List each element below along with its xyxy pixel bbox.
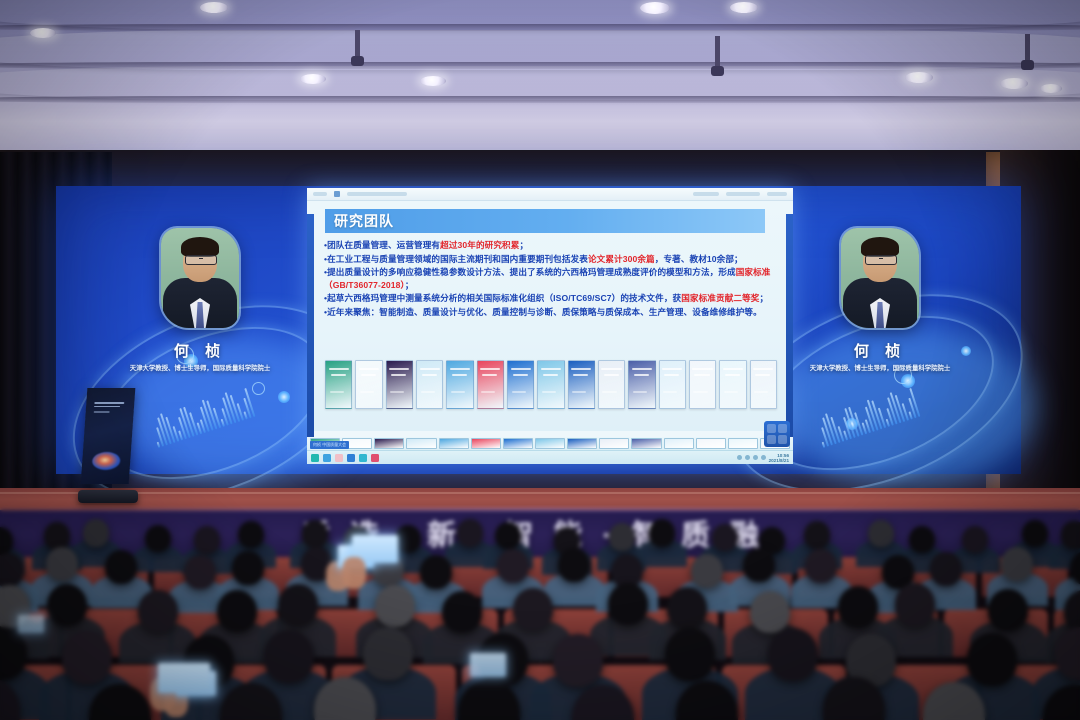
slide-thumbnail[interactable] [664, 438, 694, 449]
bullet-highlight: 超过30年的研究积累 [440, 240, 519, 250]
presentation-slide: 研究团队 •团队在质量管理、运营管理有超过30年的研究积累；•在工业工程与质量管… [307, 188, 793, 464]
audience-head [420, 555, 452, 589]
podium-logo [92, 452, 121, 470]
audience-head [184, 555, 216, 589]
ceiling-downlight [730, 2, 758, 13]
audience-hand [342, 557, 366, 589]
audience-head [691, 554, 723, 588]
audience-head [232, 551, 264, 585]
audience-head [608, 583, 648, 625]
bullet-text: •团队在质量管理、运营管理有 [324, 240, 440, 250]
book-cover-1 [325, 360, 352, 409]
audience-head [805, 549, 837, 583]
audience-head [712, 524, 738, 552]
ceiling-rib [0, 62, 1080, 69]
slide-thumbnail[interactable] [728, 438, 758, 449]
minimize-button[interactable] [767, 424, 776, 433]
audience-head [838, 586, 878, 628]
book-cover-11 [628, 360, 655, 409]
tray-icon[interactable] [745, 455, 750, 460]
audience-head [264, 630, 314, 683]
pendant-head [711, 66, 724, 76]
audience-head [868, 520, 894, 548]
audience-head [768, 628, 818, 681]
speaker-podium [78, 388, 138, 503]
audience-head [649, 519, 675, 547]
taskbar-app-icon-4[interactable] [347, 454, 355, 462]
pendant-head [351, 56, 364, 66]
mic-button[interactable] [767, 435, 776, 444]
audience-phone [18, 615, 44, 633]
network-icon[interactable] [753, 455, 758, 460]
slide-thumbnail[interactable] [535, 438, 565, 449]
slide-bullet: •在工业工程与质量管理领域的国际主流期刊和国内重要期刊包括发表论文累计300余篇… [324, 253, 776, 266]
audience-head [895, 583, 935, 625]
book-cover-6 [477, 360, 504, 409]
taskbar-tray[interactable]: 10:56 2021/8/21 [737, 453, 789, 463]
slide-bullet: •团队在质量管理、运营管理有超过30年的研究积累； [324, 239, 776, 252]
book-cover-14 [719, 360, 746, 409]
pendant-head [1021, 60, 1034, 70]
volume-icon[interactable] [761, 455, 766, 460]
ceiling-downlight [1040, 84, 1062, 93]
audience-head [1061, 521, 1080, 549]
audience-head [145, 525, 171, 553]
taskbar-app-icon-2[interactable] [323, 454, 331, 462]
audience-head [44, 522, 70, 550]
bullet-text: ； [519, 240, 528, 250]
audience-head [667, 587, 707, 629]
book-cover-10 [598, 360, 625, 409]
book-cover-7 [507, 360, 534, 409]
taskbar-icons[interactable] [311, 454, 379, 462]
slide-bullet: •提出质量设计的多响应稳健性稳参数设计方法、提出了系统的六西格玛管理成熟度评价的… [324, 266, 776, 291]
book-cover-5 [446, 360, 473, 409]
audience-head [988, 589, 1028, 631]
ceiling-downlight [30, 28, 56, 38]
slide-thumbnail-strip[interactable] [307, 437, 793, 450]
book-cover-15 [750, 360, 777, 409]
share-button[interactable] [778, 435, 787, 444]
conference-hall-photo: 何 桢 天津大学教授、博士生导师，国际质量科学院院士 何 桢 天津大学教授、博士… [0, 0, 1080, 720]
audience-head [375, 585, 415, 627]
slide-canvas: 研究团队 •团队在质量管理、运营管理有超过30年的研究积累；•在工业工程与质量管… [307, 201, 793, 431]
book-cover-4 [416, 360, 443, 409]
bullet-text: ； [759, 293, 768, 303]
audience-head [47, 584, 87, 626]
slide-thumbnail[interactable] [471, 438, 501, 449]
audience-head [194, 526, 220, 554]
app-icon [334, 191, 340, 197]
book-cover-8 [537, 360, 564, 409]
audience-head [513, 588, 553, 630]
book-cover-2 [355, 360, 382, 409]
book-cover-row [325, 360, 777, 409]
floating-control-panel[interactable] [764, 421, 790, 447]
bullet-text: •近年来聚焦：智能制造、质量设计与优化、质量控制与诊断、质保策略与质保成本、生产… [324, 307, 762, 317]
audience-head [497, 549, 529, 583]
bullet-text: •起草六西格玛管理中测量系统分析的相关国际标准化组织（ISO/TC69/SC7）… [324, 293, 681, 303]
powerpoint-ribbon[interactable] [307, 188, 793, 201]
pendant-rod [355, 30, 360, 56]
audience-head [395, 525, 421, 553]
slide-thumbnail[interactable] [374, 438, 404, 449]
taskbar-app-icon-3[interactable] [335, 454, 343, 462]
slide-thumbnail[interactable] [439, 438, 469, 449]
book-cover-9 [568, 360, 595, 409]
taskbar-app-icon-6[interactable] [371, 454, 379, 462]
audience-head [83, 519, 109, 547]
ceiling-downlight [420, 76, 446, 86]
taskbar-app-icon-1[interactable] [311, 454, 319, 462]
slide-thumbnail[interactable] [567, 438, 597, 449]
taskbar-app-icon-5[interactable] [359, 454, 367, 462]
audience-head [0, 553, 24, 587]
slide-thumbnail[interactable] [503, 438, 533, 449]
audience-head [967, 633, 1017, 686]
audience-head [962, 526, 988, 554]
stage-edge-line [0, 492, 1080, 494]
audience-head [138, 590, 178, 632]
slide-thumbnail[interactable] [631, 438, 661, 449]
slide-thumbnail[interactable] [696, 438, 726, 449]
tray-icon[interactable] [737, 455, 742, 460]
speaker-portrait [161, 228, 239, 328]
audience-head [217, 590, 257, 632]
bullet-highlight: 论文累计300余篇 [588, 254, 655, 264]
speaker-portrait [841, 228, 919, 328]
slide-thumbnail[interactable] [406, 438, 436, 449]
slide-thumbnail[interactable] [599, 438, 629, 449]
audience-head [302, 520, 328, 548]
bullet-highlight: 国家标准贡献二等奖 [681, 293, 759, 303]
audience-phone [158, 663, 210, 693]
pendant-rod [1025, 34, 1030, 60]
audience-head [553, 634, 603, 687]
audience-head [457, 519, 483, 547]
maximize-button[interactable] [778, 424, 787, 433]
audience-head [495, 522, 521, 550]
audience-head [238, 521, 264, 549]
taskbar-clock-date: 2021/8/21 [769, 458, 789, 463]
audience-head [665, 628, 715, 681]
ceiling-downlight [640, 2, 670, 14]
book-cover-12 [659, 360, 686, 409]
audience-head [750, 591, 790, 633]
audience-head [46, 547, 78, 581]
audience-head [609, 523, 635, 551]
slide-accent-left [307, 214, 314, 444]
ceiling-rib [0, 24, 1080, 31]
bullet-text: •在工业工程与质量管理领域的国际主流期刊和国内重要期刊包括发表 [324, 254, 588, 264]
bullet-text: ，专著、教材10余部； [655, 254, 743, 264]
audience-head [558, 548, 590, 582]
ceiling [0, 0, 1080, 152]
ceiling-downlight [200, 2, 228, 13]
ceiling-rib [0, 96, 1080, 103]
audience-head [442, 591, 482, 633]
speaker-title: 天津大学教授、博士生导师，国际质量科学院院士 [75, 363, 325, 372]
pendant-rod [715, 36, 720, 66]
slide-bullet-list: •团队在质量管理、运营管理有超过30年的研究积累；•在工业工程与质量管理领域的国… [324, 239, 776, 320]
slide-title: 研究团队 [334, 211, 394, 231]
slide-bullet: •近年来聚焦：智能制造、质量设计与优化、质量控制与诊断、质保策略与质保成本、生产… [324, 306, 776, 319]
book-cover-3 [386, 360, 413, 409]
slide-bullet: •起草六西格玛管理中测量系统分析的相关国际标准化组织（ISO/TC69/SC7）… [324, 292, 776, 305]
audience-seating [0, 505, 1080, 720]
audience-head [1001, 547, 1033, 581]
meeting-tag: 何桢 中国质量大会 [310, 441, 349, 449]
ceiling-downlight [1000, 78, 1028, 89]
bullet-text: ； [405, 280, 414, 290]
slide-accent-right [786, 214, 793, 444]
audience-head [278, 584, 318, 626]
audience-head [743, 548, 775, 582]
audience-head [105, 550, 137, 584]
book-cover-13 [689, 360, 716, 409]
windows-taskbar[interactable]: 10:56 2021/8/21 [307, 450, 793, 464]
audience-head [1022, 520, 1048, 548]
audience-head [363, 627, 413, 680]
audience-head [62, 631, 112, 684]
ceiling-downlight [905, 72, 933, 83]
ceiling-downlight [300, 74, 326, 84]
audience-phone [470, 653, 506, 677]
speaker-name: 何 桢 [75, 340, 325, 361]
audience-head [804, 521, 830, 549]
audience-head [909, 526, 935, 554]
bullet-text: •提出质量设计的多响应稳健性稳参数设计方法、提出了系统的六西格玛管理成熟度评价的… [324, 267, 736, 277]
slide-title-bar: 研究团队 [325, 209, 765, 233]
audience-head [930, 552, 962, 586]
